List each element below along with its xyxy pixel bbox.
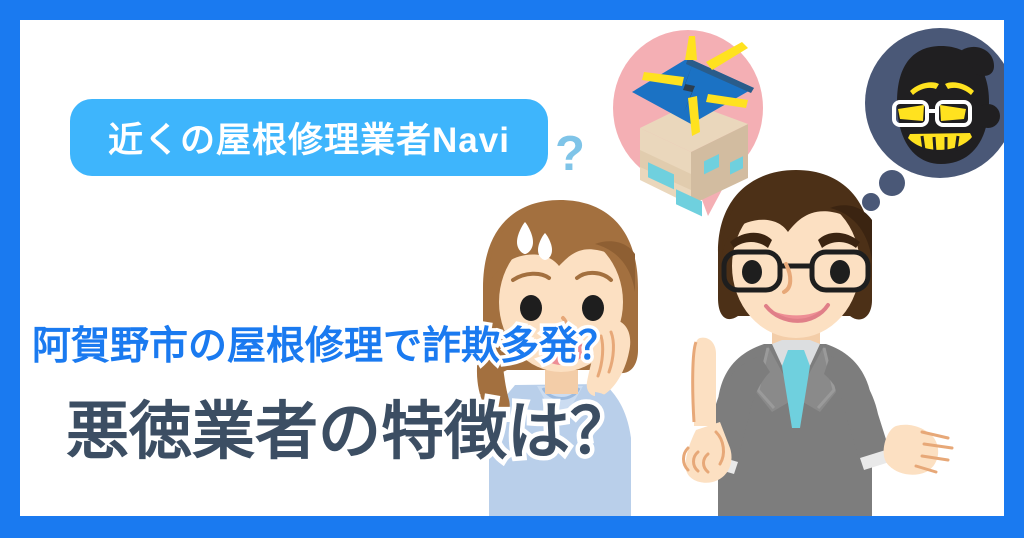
- site-badge[interactable]: 近くの屋根修理業者Navi: [70, 99, 548, 176]
- banner-canvas: 近くの屋根修理業者Navi ? 阿賀野市の屋根修理で詐欺多発？ 悪徳業者の特徴は…: [20, 20, 1004, 516]
- businessman-eye: [830, 260, 850, 284]
- businessman-eye: [742, 260, 762, 284]
- question-mark-decoration: ?: [555, 130, 585, 179]
- sub-heading: 阿賀野市の屋根修理で詐欺多発？: [32, 315, 617, 371]
- open-hand: [884, 425, 952, 475]
- page-title: 悪徳業者の特徴は？: [66, 381, 633, 472]
- index-finger: [694, 338, 716, 426]
- site-badge-label: 近くの屋根修理業者Navi: [108, 112, 510, 163]
- banner-root: 近くの屋根修理業者Navi ? 阿賀野市の屋根修理で詐欺多発？ 悪徳業者の特徴は…: [0, 0, 1024, 538]
- pointing-businessman: [660, 160, 960, 516]
